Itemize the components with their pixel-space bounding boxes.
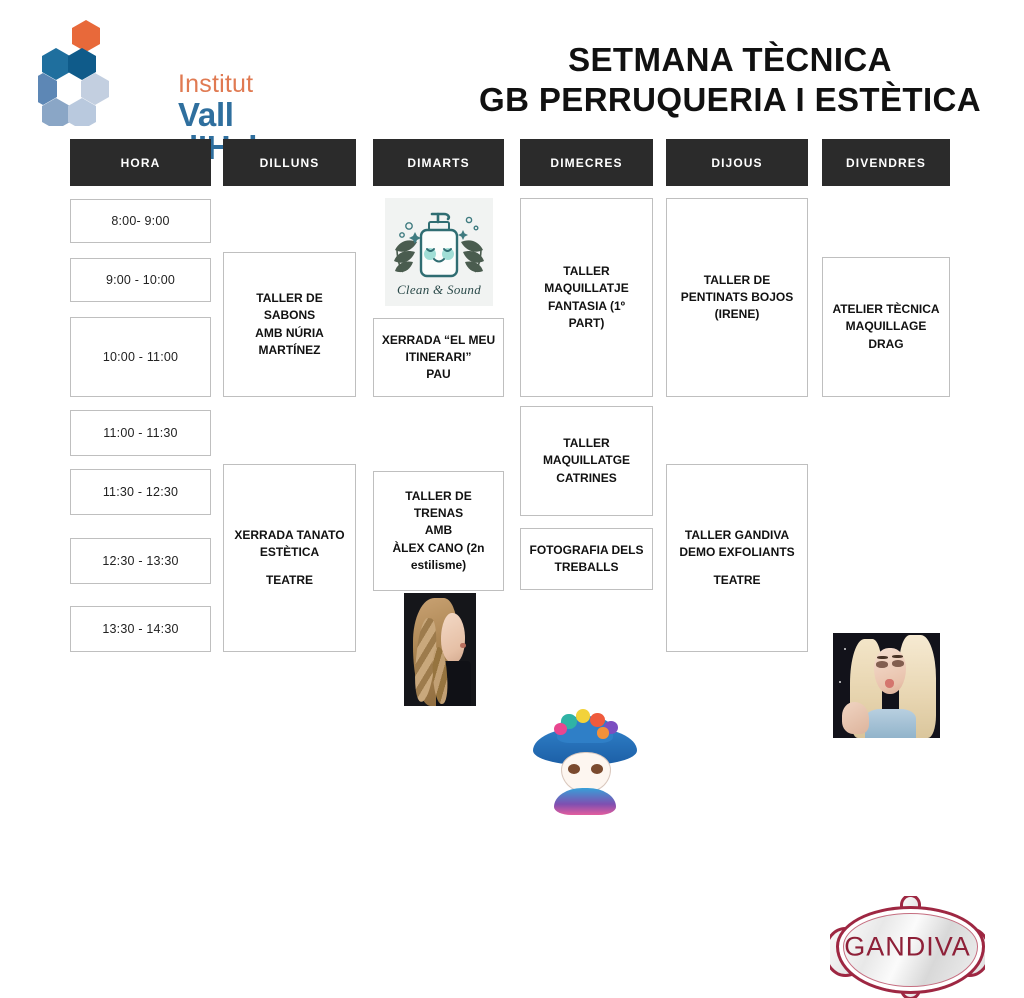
tongue-shape xyxy=(885,679,894,687)
face-shape xyxy=(441,613,465,663)
activity-line: DRAG xyxy=(832,336,939,353)
eyebrow-shape xyxy=(877,656,888,659)
activity-dijous-pentinats: TALLER DE PENTINATS BOJOS (IRENE) xyxy=(666,198,808,397)
eye-makeup-shape xyxy=(892,660,904,666)
lip-shape xyxy=(460,643,466,649)
activity-line: TALLER xyxy=(544,263,628,280)
activity-line: TEATRE xyxy=(679,572,794,589)
activity-line: PAU xyxy=(382,366,495,383)
activity-dimecres-fotografia: FOTOGRAFIA DELS TREBALLS xyxy=(520,528,653,590)
activity-line: FOTOGRAFIA DELS xyxy=(530,542,644,559)
activity-line: PART) xyxy=(544,315,628,332)
activity-divendres-drag: ATELIER TÈCNICA MAQUILLAGE DRAG xyxy=(822,257,950,397)
activity-line: XERRADA “EL MEU xyxy=(382,332,495,349)
activity-dimecres-catrines: TALLER MAQUILLATGE CATRINES xyxy=(520,406,653,516)
activity-line: ITINERARI” xyxy=(382,349,495,366)
flower-shape xyxy=(597,727,609,738)
activity-line: TALLER GANDIVA xyxy=(679,527,794,544)
schedule-poster: Institut Vall d’Hebron SETMANA TÈCNICA G… xyxy=(0,0,1024,724)
activity-line: estilisme) xyxy=(380,557,497,574)
time-slot-1: 8:00- 9:00 xyxy=(70,199,211,243)
activity-line: MAQUILLATGE xyxy=(543,452,630,469)
column-header-divendres: DIVENDRES xyxy=(822,139,950,186)
star-dot xyxy=(839,681,841,683)
time-slot-3: 10:00 - 11:00 xyxy=(70,317,211,397)
clean-and-sound-logo: Clean & Sound xyxy=(385,198,493,306)
activity-line: ESTÈTICA xyxy=(234,544,344,561)
column-header-hora: HORA xyxy=(70,139,211,186)
timetable-grid: HORA DILLUNS DIMARTS DIMECRES DIJOUS DIV… xyxy=(0,0,1024,724)
flower-shape xyxy=(576,709,590,722)
activity-line: TREBALLS xyxy=(530,559,644,576)
activity-line: ATELIER TÈCNICA xyxy=(832,301,939,318)
drag-queen-photo xyxy=(833,633,940,738)
gandiva-wordmark: GANDIVA xyxy=(830,932,985,963)
activity-line: MAQUILLAGE xyxy=(832,318,939,335)
star-dot xyxy=(844,648,846,650)
activity-dilluns-morning: TALLER DE SABONS AMB NÚRIA MARTÍNEZ xyxy=(223,252,356,397)
activity-dimecres-fantasia: TALLER MAQUILLATJE FANTASIA (1º PART) xyxy=(520,198,653,397)
activity-dimarts-trenas: TALLER DE TRENAS AMB ÀLEX CANO (2n estil… xyxy=(373,471,504,591)
eyebrow-shape xyxy=(892,655,903,658)
activity-line: TALLER DE SABONS xyxy=(230,290,349,324)
column-header-dijous: DIJOUS xyxy=(666,139,808,186)
activity-line: TALLER DE xyxy=(681,272,793,289)
soap-bottle-icon xyxy=(385,198,493,290)
time-slot-5: 11:30 - 12:30 xyxy=(70,469,211,515)
catrina-illustration xyxy=(526,705,644,817)
time-slot-7: 13:30 - 14:30 xyxy=(70,606,211,652)
activity-line: PENTINATS BOJOS xyxy=(681,289,793,306)
time-slot-2: 9:00 - 10:00 xyxy=(70,258,211,302)
activity-line: (IRENE) xyxy=(681,306,793,323)
activity-line: FANTASIA (1º xyxy=(544,298,628,315)
garment-shape xyxy=(865,709,916,738)
activity-line: TEATRE xyxy=(234,572,344,589)
column-header-dilluns: DILLUNS xyxy=(223,139,356,186)
activity-line: XERRADA TANATO xyxy=(234,527,344,544)
clean-and-sound-caption: Clean & Sound xyxy=(385,282,493,298)
time-slot-6: 12:30 - 13:30 xyxy=(70,538,211,584)
activity-line: CATRINES xyxy=(543,470,630,487)
activity-dimarts-xerrada: XERRADA “EL MEU ITINERARI” PAU xyxy=(373,318,504,397)
activity-dijous-gandiva: TALLER GANDIVA DEMO EXFOLIANTS TEATRE xyxy=(666,464,808,652)
activity-line: ÀLEX CANO (2n xyxy=(380,540,497,557)
column-header-dimarts: DIMARTS xyxy=(373,139,504,186)
time-slot-4: 11:00 - 11:30 xyxy=(70,410,211,456)
activity-line: AMB xyxy=(380,522,497,539)
activity-line: DEMO EXFOLIANTS xyxy=(679,544,794,561)
gandiva-logo: GANDIVA xyxy=(830,896,985,998)
dress-shape xyxy=(554,788,615,815)
activity-line: TALLER DE TRENAS xyxy=(380,488,497,522)
activity-line: AMB NÚRIA xyxy=(230,325,349,342)
activity-spacer xyxy=(679,561,794,572)
activity-dilluns-afternoon: XERRADA TANATO ESTÈTICA TEATRE xyxy=(223,464,356,652)
eye-makeup-shape xyxy=(876,661,888,667)
hand-shape xyxy=(842,702,870,734)
activity-line: MARTÍNEZ xyxy=(230,342,349,359)
braided-hair-photo xyxy=(404,593,476,706)
activity-spacer xyxy=(234,561,344,572)
column-header-dimecres: DIMECRES xyxy=(520,139,653,186)
activity-line: TALLER xyxy=(543,435,630,452)
activity-line: MAQUILLATJE xyxy=(544,280,628,297)
